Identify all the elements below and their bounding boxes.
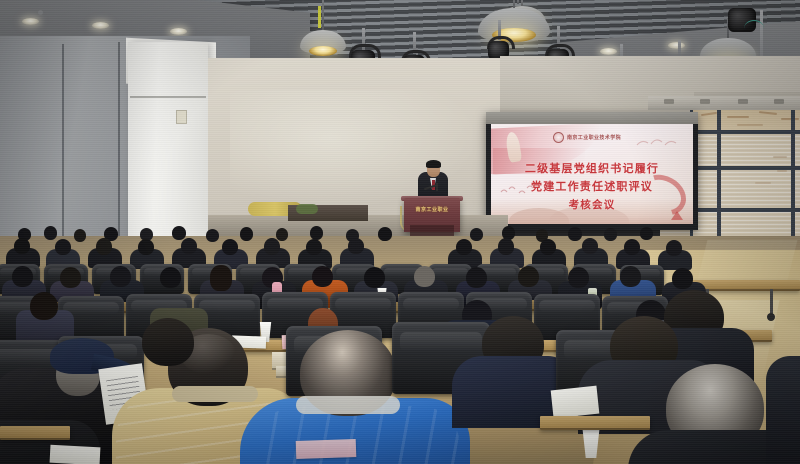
potted-plant: [296, 204, 318, 214]
microphone-stand: [436, 183, 438, 191]
desk-caster-icon: [767, 313, 775, 321]
attendee-head: [666, 240, 682, 256]
attendee-head-long-hair: [210, 265, 232, 291]
attendee-head: [498, 238, 514, 255]
downlight-icon: [22, 18, 39, 25]
attendee-head: [142, 318, 194, 366]
attendee-head: [264, 238, 280, 255]
attendee-head: [306, 239, 322, 255]
blind-pattern: [755, 182, 771, 184]
attendee-head: [160, 267, 181, 288]
valance-tab: [738, 99, 748, 104]
blind-pattern: [727, 116, 749, 118]
slide-title-line-1: 二级基层党组织书记履行: [491, 160, 693, 176]
blind-pattern: [781, 118, 799, 120]
attendee-head: [55, 239, 71, 255]
downlight-icon: [92, 22, 109, 29]
conference-hall-photo: 南京工业职业技术学院 二级基层党组织书记履行 党建工作责任述职评议 考核会议 南…: [0, 0, 800, 464]
attendee-head: [96, 238, 112, 255]
document-paper: [50, 445, 101, 464]
podium-label: 南京工业职业: [407, 206, 457, 213]
window-mullion-horizontal: [693, 130, 800, 134]
projection-screen-roller: [486, 112, 698, 124]
window-mullion-horizontal: [693, 208, 800, 212]
blind-pattern: [777, 170, 787, 172]
speaker-hair: [426, 160, 441, 168]
sprinkler-head-icon: [38, 10, 43, 15]
slide-title-line-2: 党建工作责任述职评议: [491, 178, 693, 194]
university-logo-text: 南京工业职业技术学院: [567, 134, 621, 141]
light-switch-plate[interactable]: [176, 110, 187, 124]
attendee-head: [456, 239, 472, 255]
pendant-lamp: [300, 0, 346, 62]
rigging-cable: [318, 6, 321, 28]
attendee-head: [518, 266, 539, 287]
projection-screen-slide: 南京工业职业技术学院 二级基层党组织书记履行 党建工作责任述职评议 考核会议: [491, 124, 693, 224]
attendee-head: [14, 238, 30, 254]
attendee-head: [222, 239, 238, 255]
downlight-icon: [170, 28, 187, 35]
university-emblem-icon: [553, 132, 564, 143]
slide-title-line-3: 考核会议: [491, 197, 693, 212]
window-mullion-horizontal: [693, 166, 800, 170]
attendee-head: [110, 266, 131, 287]
attendee-desk: [0, 426, 70, 440]
column-seam: [130, 96, 206, 98]
attendee-head: [30, 292, 58, 320]
university-logo: 南京工业职业技术学院: [553, 132, 621, 143]
valance-tab: [774, 99, 784, 104]
star-graphic: [671, 211, 683, 220]
collar: [172, 386, 258, 402]
pink-document: [296, 439, 357, 459]
attendee-head: [466, 267, 487, 288]
attendee-head: [181, 238, 197, 254]
attendee-head: [12, 266, 33, 287]
rigging-cable: [744, 20, 764, 37]
attendee-head: [582, 238, 598, 254]
attendee-head: [138, 239, 154, 255]
attendee-head: [540, 239, 556, 255]
blind-pattern: [737, 124, 763, 126]
collar: [296, 396, 400, 414]
decorative-wave-graphic: [635, 136, 689, 148]
attendee-head: [364, 267, 385, 288]
attendee-head: [414, 266, 435, 287]
window-blind-top-valance: [693, 108, 800, 132]
valance-tab: [664, 99, 674, 104]
attendee-head: [60, 267, 81, 288]
attendee-head: [312, 266, 333, 287]
attendee-desk: [540, 416, 650, 430]
valance-tab: [700, 99, 710, 104]
document-paper: [551, 386, 600, 419]
attendee-coat: [766, 356, 800, 464]
attendee-head: [568, 267, 589, 288]
attendee-head: [620, 266, 641, 287]
blind-pattern: [773, 156, 787, 158]
attendee-head: [348, 238, 364, 254]
attendee-head: [624, 239, 640, 255]
attendee-head: [672, 268, 693, 289]
